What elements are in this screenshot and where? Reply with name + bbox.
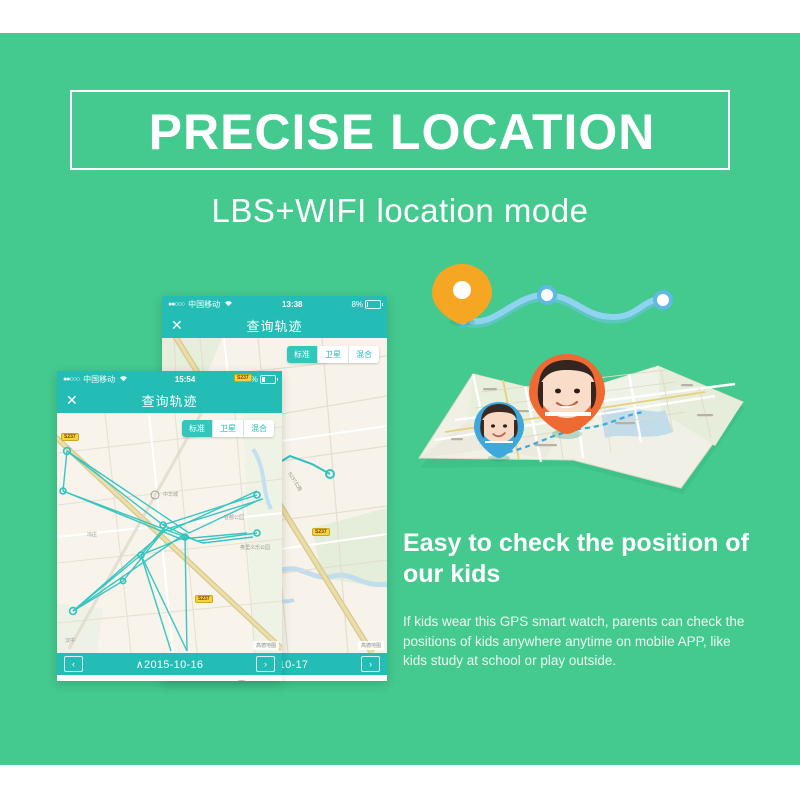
map-attribution: 高德地图: [358, 641, 384, 650]
phone-screenshot-front: ●●○○○ 中国移动 15:54 22% ✕ 查询轨迹: [57, 371, 282, 681]
carrier-label: 中国移动: [83, 374, 115, 385]
selected-date: ∧2015-10-16: [136, 658, 204, 671]
status-bar: ●●○○○ 中国移动 13:38 8%: [162, 296, 387, 312]
close-icon[interactable]: ✕: [66, 393, 78, 407]
highway-shield: S237: [234, 374, 252, 382]
date-navigator: ‹ ∧2015-10-16 ›: [57, 653, 282, 675]
wifi-icon: [224, 300, 233, 309]
location-illustration: [415, 262, 785, 522]
segment-standard[interactable]: 标准: [287, 346, 318, 363]
signal-dots-icon: ●●○○○: [168, 301, 184, 308]
slider-handle[interactable]: [232, 680, 251, 681]
poi-label: 冯庄: [87, 531, 97, 538]
highway-shield: S237: [312, 528, 330, 536]
map-type-segmented-control[interactable]: 标准 卫星 混合: [287, 346, 379, 363]
highway-shield: S237: [195, 595, 213, 603]
map-canvas[interactable]: S237 S237 中华城 冯庄 汉中 标准 卫星 混合 高德地图: [57, 413, 282, 653]
map-type-segmented-control[interactable]: 标准 卫星 混合: [182, 420, 274, 437]
page-subtitle: LBS+WIFI location mode: [0, 192, 800, 230]
poi-label: 奥里义乐公园: [240, 544, 270, 551]
map-pin-icon: [432, 264, 492, 326]
poi-label: 中华城: [163, 491, 178, 498]
highway-shield: S237: [61, 433, 79, 441]
body-paragraph: If kids wear this GPS smart watch, paren…: [403, 612, 755, 671]
poi-label: 首都公园: [224, 514, 244, 521]
signal-dots-icon: ●●○○○: [63, 376, 79, 383]
segment-standard[interactable]: 标准: [182, 420, 213, 437]
nav-bar: ✕ 查询轨迹: [162, 312, 387, 338]
nav-bar: ✕ 查询轨迹: [57, 387, 282, 413]
next-day-button[interactable]: ›: [256, 656, 275, 672]
close-icon[interactable]: ✕: [171, 318, 183, 332]
nav-title: 查询轨迹: [162, 316, 387, 335]
poi-label: 汉中: [65, 637, 75, 644]
map-attribution: 高德地图: [253, 641, 279, 650]
clock-label: 13:38: [233, 300, 351, 309]
promo-page: PRECISE LOCATION LBS+WIFI location mode …: [0, 0, 800, 800]
page-title: PRECISE LOCATION: [72, 92, 732, 172]
headline: Easy to check the position of our kids: [403, 528, 783, 589]
segment-satellite[interactable]: 卫星: [213, 420, 244, 437]
segment-hybrid[interactable]: 混合: [244, 420, 274, 437]
prev-day-button[interactable]: ‹: [64, 656, 83, 672]
battery-indicator: 8%: [351, 300, 381, 309]
wifi-icon: [119, 375, 128, 384]
clock-label: 15:54: [128, 375, 242, 384]
nav-title: 查询轨迹: [57, 391, 282, 410]
page-title-frame: PRECISE LOCATION: [70, 90, 730, 170]
battery-icon: [260, 375, 276, 384]
next-day-button[interactable]: ›: [361, 656, 380, 672]
battery-percent-label: 8%: [351, 300, 363, 309]
segment-hybrid[interactable]: 混合: [349, 346, 379, 363]
segment-satellite[interactable]: 卫星: [318, 346, 349, 363]
battery-icon: [365, 300, 381, 309]
playback-slider[interactable]: [57, 675, 282, 681]
carrier-label: 中国移动: [188, 299, 220, 310]
